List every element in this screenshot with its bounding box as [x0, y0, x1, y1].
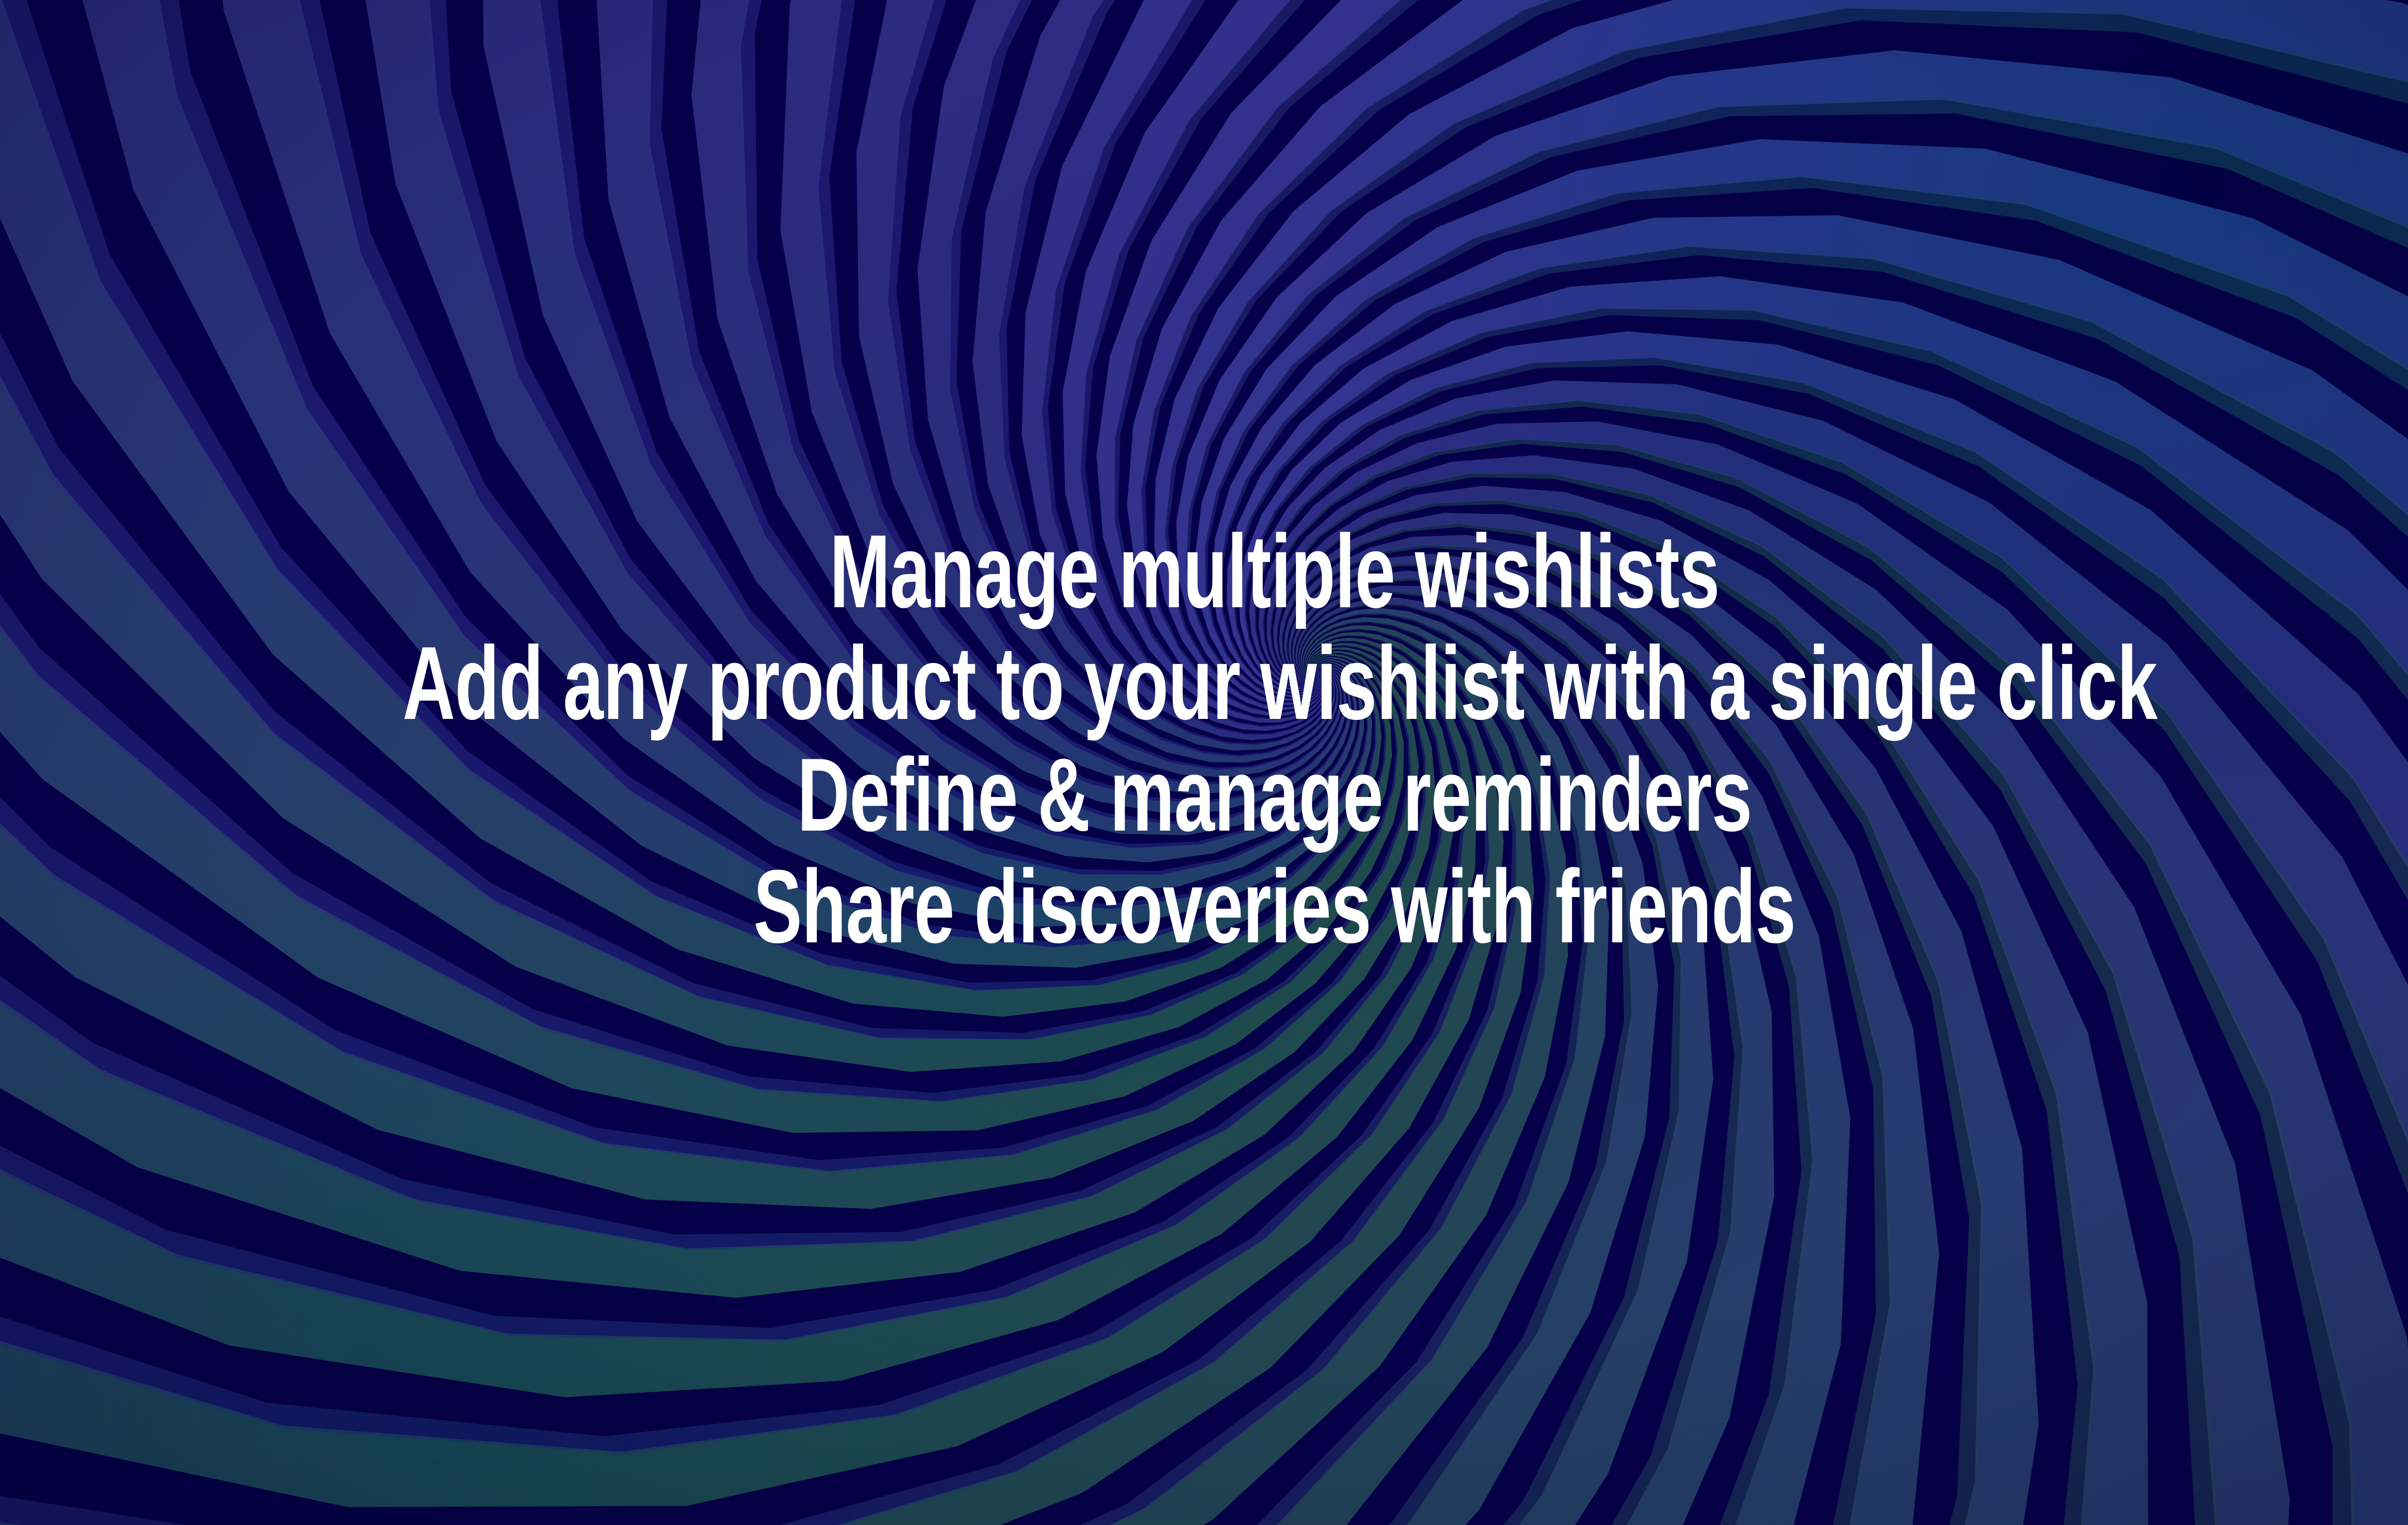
headline-line-1: Manage multiple wishlists: [403, 515, 2146, 627]
headline-line-2: Add any product to your wishlist with a …: [403, 627, 2146, 739]
headline-line-3: Define & manage reminders: [403, 739, 2146, 850]
headline-line-4: Share discoveries with friends: [403, 850, 2146, 962]
feature-headline-block: Manage multiple wishlists Add any produc…: [0, 515, 2408, 962]
banner-root: Manage multiple wishlists Add any produc…: [0, 0, 2408, 1525]
